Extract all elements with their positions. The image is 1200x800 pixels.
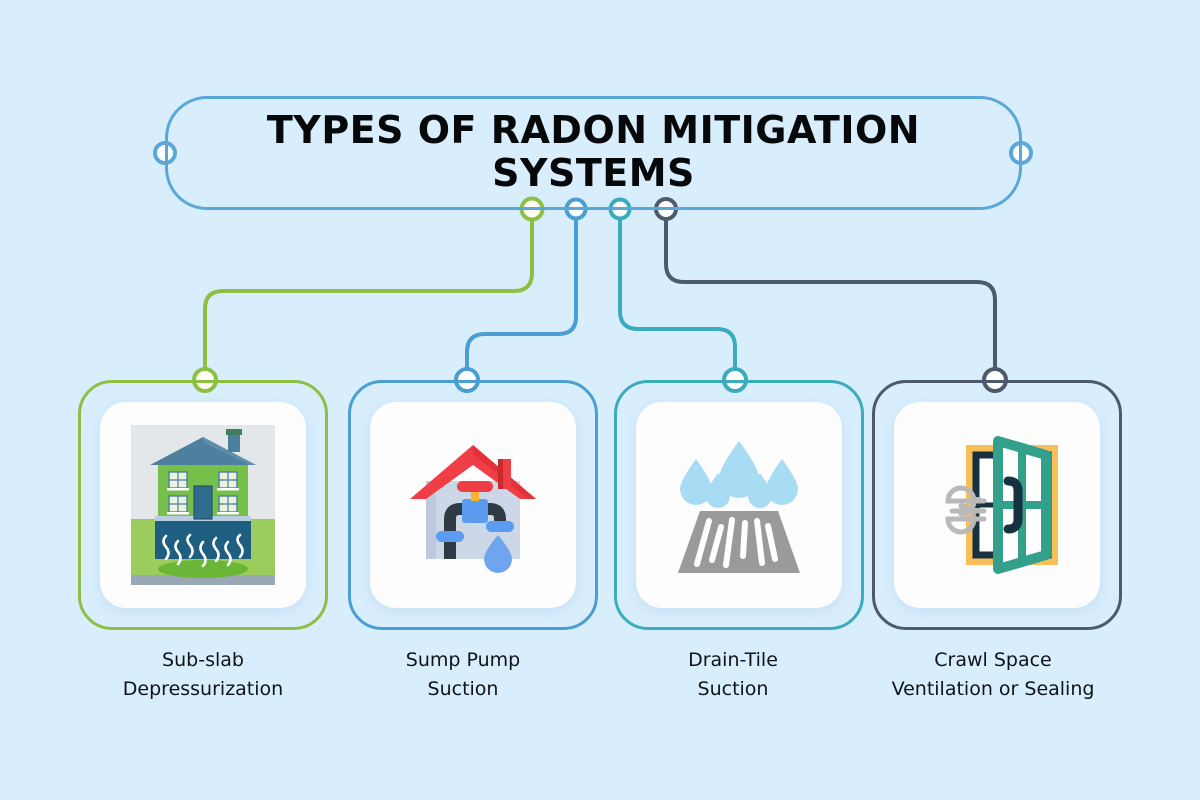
- label-line-2: Suction: [328, 675, 598, 704]
- infographic-canvas: TYPES OF RADON MITIGATION SYSTEMS: [0, 0, 1200, 800]
- card-label-sump-pump-suction: Sump Pump Suction: [328, 646, 598, 705]
- label-line-1: Crawl Space: [858, 646, 1128, 675]
- card-inner-panel: [636, 402, 842, 608]
- label-line-2: Depressurization: [68, 675, 338, 704]
- water-drops-over-drain-grate-icon: [664, 423, 814, 587]
- house-faucet-pipe-water-drop-icon: [398, 423, 548, 587]
- card-inner-panel: [894, 402, 1100, 608]
- card-label-sub-slab-depressurization: Sub-slab Depressurization: [68, 646, 338, 705]
- card-label-drain-tile-suction: Drain-Tile Suction: [598, 646, 868, 705]
- label-line-2: Suction: [598, 675, 868, 704]
- card-inner-panel: [100, 402, 306, 608]
- card-crawl-space-ventilation-or-sealing[interactable]: [872, 380, 1122, 630]
- connector-line-4: [666, 209, 995, 380]
- open-window-with-wind-icon: [922, 423, 1072, 587]
- connector-line-2: [467, 209, 576, 380]
- card-label-crawl-space-ventilation-or-sealing: Crawl Space Ventilation or Sealing: [858, 646, 1128, 705]
- connector-line-3: [620, 209, 735, 380]
- page-title-box: TYPES OF RADON MITIGATION SYSTEMS: [165, 96, 1022, 210]
- page-title: TYPES OF RADON MITIGATION SYSTEMS: [214, 109, 974, 197]
- card-drain-tile-suction[interactable]: [614, 380, 864, 630]
- connector-line-1: [205, 209, 532, 380]
- card-sub-slab-depressurization[interactable]: [78, 380, 328, 630]
- label-line-2: Ventilation or Sealing: [858, 675, 1128, 704]
- house-with-basement-radon-icon: [128, 423, 278, 587]
- label-line-1: Sub-slab: [68, 646, 338, 675]
- card-sump-pump-suction[interactable]: [348, 380, 598, 630]
- label-line-1: Sump Pump: [328, 646, 598, 675]
- card-inner-panel: [370, 402, 576, 608]
- label-line-1: Drain-Tile: [598, 646, 868, 675]
